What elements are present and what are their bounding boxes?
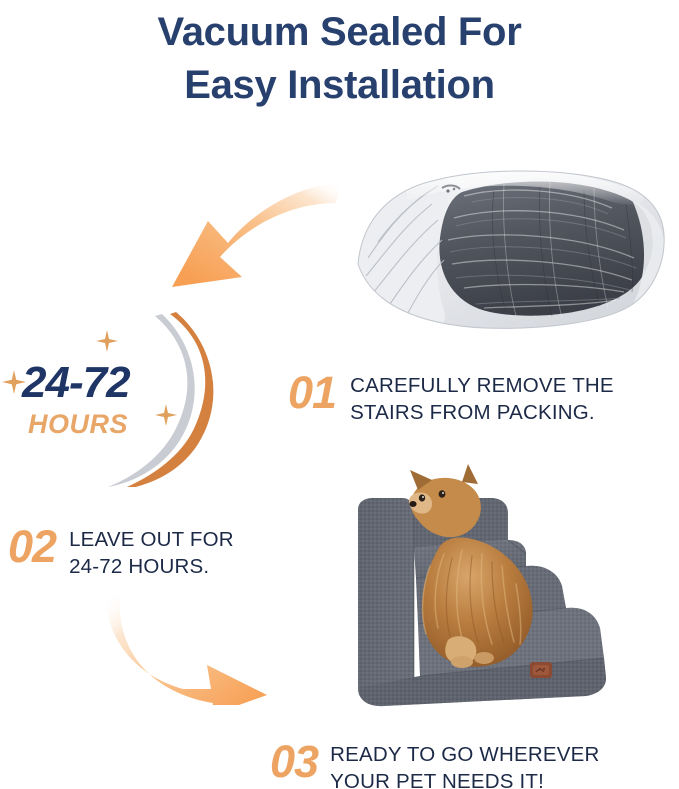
step-03: 03 READY TO GO WHEREVER YOUR PET NEEDS I… — [270, 737, 599, 789]
infographic-page: Vacuum Sealed For Easy Installation — [0, 0, 679, 789]
step-01: 01 CAREFULLY REMOVE THE STAIRS FROM PACK… — [288, 368, 614, 427]
brand-logo-patch — [530, 662, 552, 678]
step-01-text: CAREFULLY REMOVE THE STAIRS FROM PACKING… — [350, 368, 614, 427]
sparkle-star-icon — [96, 330, 118, 352]
vacuum-sealed-package-photo — [344, 160, 674, 335]
step-02-text: LEAVE OUT FOR 24-72 HOURS. — [69, 522, 234, 581]
page-title-line-1: Vacuum Sealed For — [0, 6, 679, 59]
step-03-text: READY TO GO WHEREVER YOUR PET NEEDS IT! — [330, 737, 599, 789]
curved-arrow-down-left-icon — [150, 165, 345, 295]
curved-arrow-down-right-icon — [95, 583, 285, 705]
page-title-line-2: Easy Installation — [0, 59, 679, 112]
step-02-number: 02 — [8, 522, 56, 569]
step-02: 02 LEAVE OUT FOR 24-72 HOURS. — [8, 522, 234, 581]
badge-duration-unit: HOURS — [28, 409, 128, 440]
sparkle-star-icon — [155, 404, 177, 426]
badge-duration-value: 24-72 — [22, 358, 130, 408]
step-03-number: 03 — [270, 737, 318, 784]
duration-badge: 24-72 HOURS — [0, 312, 262, 487]
page-title: Vacuum Sealed For Easy Installation — [0, 6, 679, 112]
step-01-number: 01 — [288, 368, 336, 415]
pet-stairs-with-dog-photo — [344, 462, 674, 710]
